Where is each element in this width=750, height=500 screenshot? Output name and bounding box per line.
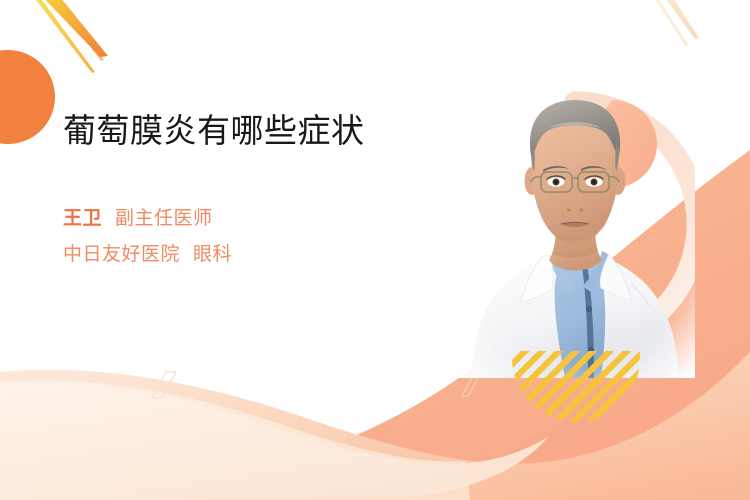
diagonal-stripes-top-left — [30, 0, 108, 73]
doctor-name-row: 王卫副主任医师 — [63, 209, 423, 228]
doctor-title: 副主任医师 — [115, 208, 213, 229]
doctor-portrait-group — [455, 78, 695, 378]
doctor-name: 王卫 — [63, 208, 102, 229]
text-content-block: 葡萄膜炎有哪些症状 王卫副主任医师 中日友好医院眼科 — [63, 112, 423, 264]
doctor-photo — [455, 78, 695, 378]
page-title: 葡萄膜炎有哪些症状 — [63, 112, 398, 151]
photo-vignette — [455, 78, 695, 378]
doctor-credentials: 王卫副主任医师 中日友好医院眼科 — [63, 209, 423, 264]
doctor-affiliation-row: 中日友好医院眼科 — [63, 245, 423, 264]
doctor-hospital: 中日友好医院 — [63, 244, 180, 265]
diagonal-stripes-top-right — [652, 0, 699, 46]
video-cover-card: 葡萄膜炎有哪些症状 王卫副主任医师 中日友好医院眼科 — [0, 0, 750, 500]
left-accent-circle — [0, 50, 55, 144]
doctor-department: 眼科 — [193, 244, 232, 265]
